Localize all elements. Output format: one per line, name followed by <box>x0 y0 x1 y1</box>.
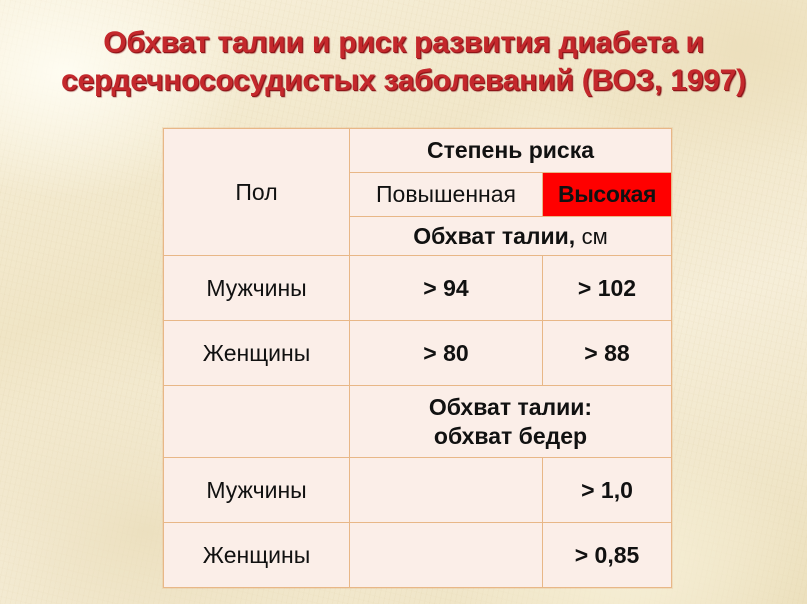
cell-women-waist-moderate: > 80 <box>350 321 543 386</box>
cell-men-ratio-high: > 1,0 <box>543 458 672 523</box>
cell-men-ratio-moderate <box>350 458 543 523</box>
table-row: Мужчины > 1,0 <box>164 458 672 523</box>
cell-sex-women-ratio: Женщины <box>164 523 350 588</box>
waist-unit-text: см <box>582 224 608 249</box>
cell-men-waist-moderate: > 94 <box>350 256 543 321</box>
cell-women-ratio-high: > 0,85 <box>543 523 672 588</box>
cell-women-waist-high: > 88 <box>543 321 672 386</box>
header-cell-high-risk: Высокая <box>543 173 672 217</box>
cell-sex-men-ratio: Мужчины <box>164 458 350 523</box>
header-cell-waist-circumference: Обхват талии, см <box>350 217 672 256</box>
cell-men-waist-high: > 102 <box>543 256 672 321</box>
header-cell-sex: Пол <box>164 129 350 256</box>
cell-women-ratio-moderate <box>350 523 543 588</box>
cell-ratio-sex-blank <box>164 386 350 458</box>
waist-label-text: Обхват талии, <box>413 223 575 249</box>
table-row: Женщины > 0,85 <box>164 523 672 588</box>
header-cell-degree-of-risk: Степень риска <box>350 129 672 173</box>
header-cell-moderate-risk: Повышенная <box>350 173 543 217</box>
table-row: Женщины > 80 > 88 <box>164 321 672 386</box>
table-subheader-row-ratio: Обхват талии:обхват бедер <box>164 386 672 458</box>
slide-title: Обхват талии и риск развития диабета и с… <box>0 24 807 100</box>
ratio-label-line-1: Обхват талии: <box>429 394 592 420</box>
waist-risk-table: Пол Степень риска Повышенная Высокая Обх… <box>163 128 672 588</box>
cell-sex-women-waist: Женщины <box>164 321 350 386</box>
table-header-row-degree: Пол Степень риска <box>164 129 672 173</box>
title-line-2: сердечнососудистых заболеваний (ВОЗ, 199… <box>24 62 783 100</box>
slide-canvas: Обхват талии и риск развития диабета и с… <box>0 0 807 604</box>
ratio-label-line-2: обхват бедер <box>434 423 587 449</box>
title-line-1: Обхват талии и риск развития диабета и <box>24 24 783 62</box>
cell-sex-men-waist: Мужчины <box>164 256 350 321</box>
header-cell-waist-hip-ratio: Обхват талии:обхват бедер <box>350 386 672 458</box>
table-row: Мужчины > 94 > 102 <box>164 256 672 321</box>
